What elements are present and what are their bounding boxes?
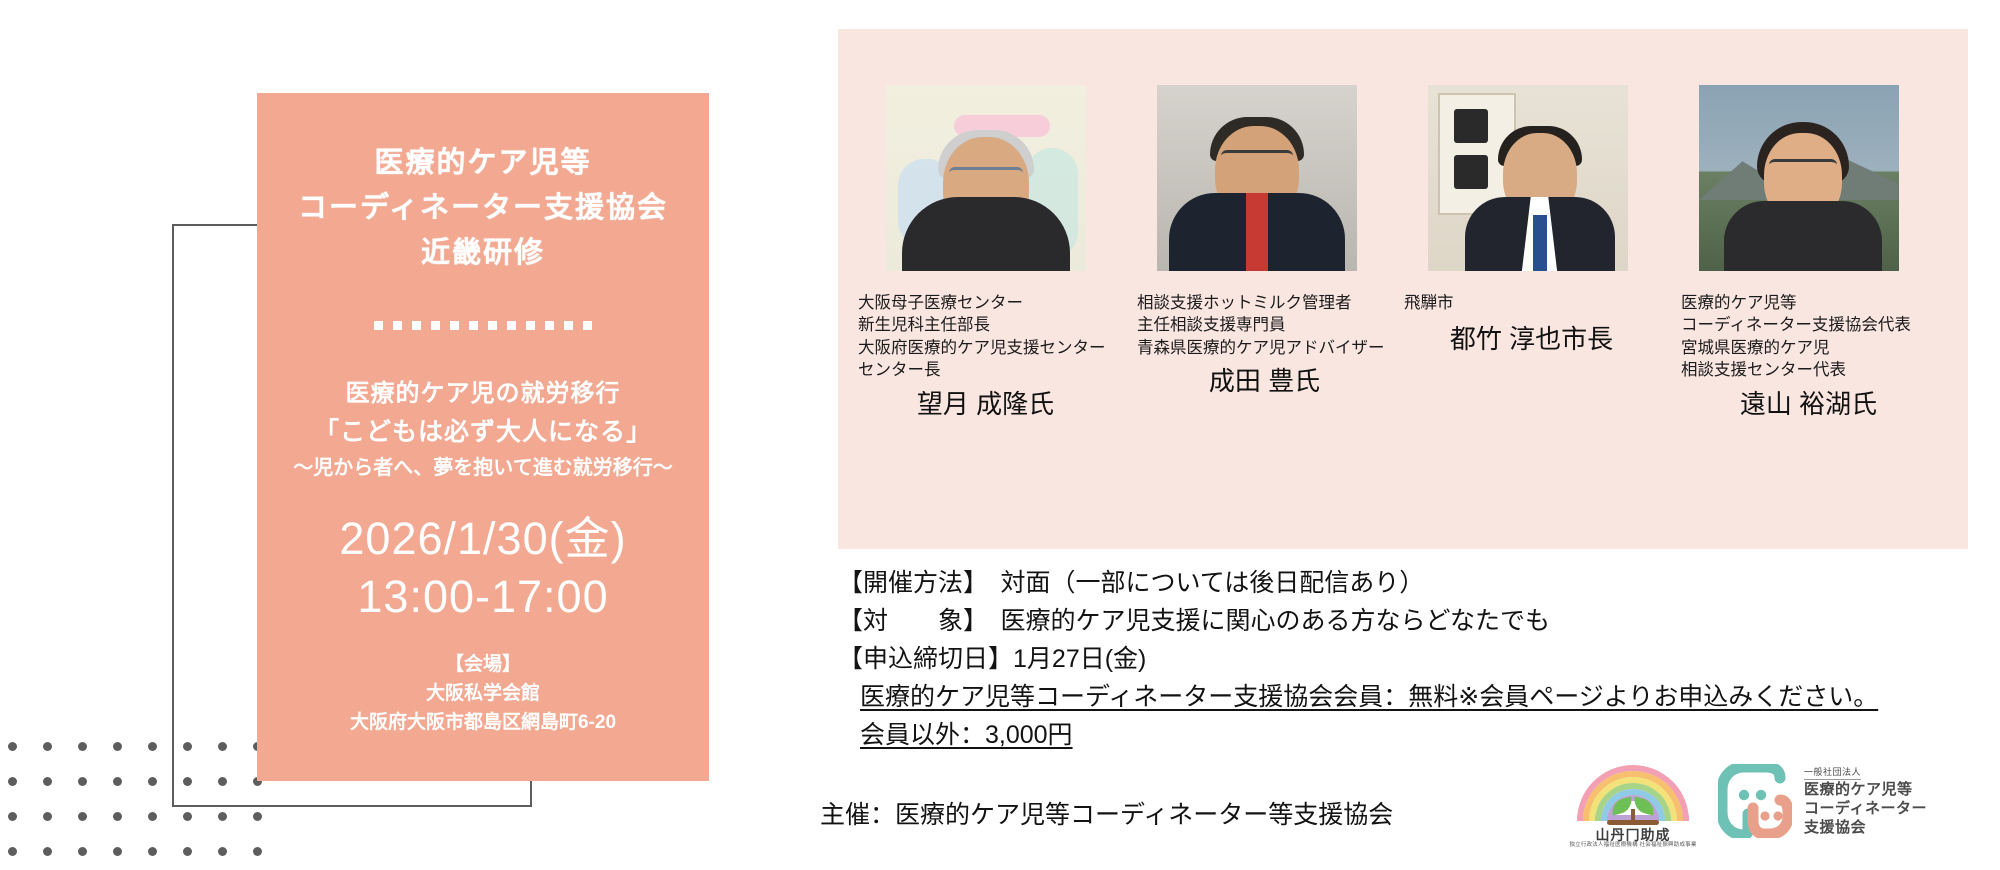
poster-venue-address: 大阪府大阪市都島区網島町6-20 bbox=[275, 709, 691, 738]
speaker-card: 相談支援ホットミルク管理者 主任相談支援専門員 青森県医療的ケア児アドバイザー … bbox=[1129, 85, 1384, 400]
poster-tagline: 〜児から者へ、夢を抱いて進む就労移行〜 bbox=[275, 454, 691, 482]
grid-dot bbox=[78, 812, 87, 821]
grid-dot bbox=[43, 742, 52, 751]
divider-dot bbox=[545, 321, 554, 330]
speaker-affiliation-line: 新生児科主任部長 bbox=[858, 314, 1113, 336]
detail-row-deadline: 【申込締切日】1月27日(金) bbox=[838, 640, 1958, 678]
poster-venue-block: 【会場】 大阪私学会館 大阪府大阪市都島区網島町6-20 bbox=[275, 651, 691, 738]
speaker-affiliation-line: 飛騨市 bbox=[1404, 292, 1659, 314]
speaker-affiliation-line: 主任相談支援専門員 bbox=[1137, 314, 1392, 336]
grid-dot bbox=[113, 847, 122, 856]
poster-title-line-2: コーディネーター支援協会 bbox=[275, 186, 691, 231]
association-wordmark: 一般社団法人 医療的ケア児等 コーディネーター 支援協会 bbox=[1804, 762, 1964, 838]
association-line-2: コーディネーター bbox=[1804, 799, 1964, 818]
speaker-affiliation-line: 大阪府医療的ケア児支援センター bbox=[858, 337, 1113, 359]
speaker-card: 飛騨市 都竹 淳也市長 bbox=[1400, 85, 1655, 358]
divider-dot bbox=[526, 321, 535, 330]
detail-label: 【対 象】 bbox=[838, 607, 976, 635]
poster-venue-label: 【会場】 bbox=[275, 651, 691, 680]
grid-dot bbox=[78, 847, 87, 856]
poster-subject: 医療的ケア児の就労移行 bbox=[275, 376, 691, 412]
speaker-affiliation-line: 大阪母子医療センター bbox=[858, 292, 1113, 314]
event-poster-card: 医療的ケア児等 コーディネーター支援協会 近畿研修 医療的ケア児の就労移行 「こ… bbox=[257, 93, 709, 781]
divider-dot bbox=[450, 321, 459, 330]
detail-value: 会員以外：3,000円 bbox=[860, 721, 1073, 749]
grid-dot bbox=[218, 812, 227, 821]
grid-dot bbox=[113, 742, 122, 751]
grid-dot bbox=[253, 812, 262, 821]
speaker-affiliation-line: 青森県医療的ケア児アドバイザー bbox=[1137, 337, 1392, 359]
detail-row-method: 【開催方法】 対面（一部については後日配信あり） bbox=[838, 564, 1958, 602]
speaker-affiliation-line: 相談支援センター代表 bbox=[1681, 359, 1936, 381]
association-prefix: 一般社団法人 bbox=[1804, 765, 1861, 780]
grid-dot bbox=[8, 847, 17, 856]
association-line-3: 支援協会 bbox=[1804, 818, 1964, 837]
poster-date: 2026/1/30(金) bbox=[275, 510, 691, 568]
speaker-name: 成田 豊氏 bbox=[1137, 364, 1392, 399]
poster-time: 13:00-17:00 bbox=[275, 568, 691, 626]
grid-dot bbox=[148, 777, 157, 786]
wam-subtitle: 独立行政法人福祉医療機構 社会福祉振興助成事業 bbox=[1549, 840, 1717, 848]
detail-value: 医療的ケア児支援に関心のある方ならどなたでも bbox=[976, 607, 1551, 635]
detail-value: 1月27日(金) bbox=[1013, 645, 1146, 673]
detail-row-member-fee: 医療的ケア児等コーディネーター支援協会会員：無料※会員ページよりお申込みください… bbox=[838, 678, 1958, 716]
detail-row-audience: 【対 象】 医療的ケア児支援に関心のある方ならどなたでも bbox=[838, 602, 1958, 640]
poster-dot-divider bbox=[373, 321, 593, 330]
divider-dot bbox=[412, 321, 421, 330]
event-details-block: 【開催方法】 対面（一部については後日配信あり） 【対 象】 医療的ケア児支援に… bbox=[838, 564, 1958, 754]
speaker-card: 医療的ケア児等 コーディネーター支援協会代表 宮城県医療的ケア児 相談支援センタ… bbox=[1671, 85, 1926, 422]
speaker-affiliation-line: 医療的ケア児等 bbox=[1681, 292, 1936, 314]
divider-dot bbox=[374, 321, 383, 330]
divider-dot bbox=[469, 321, 478, 330]
divider-dot bbox=[564, 321, 573, 330]
detail-label: 【開催方法】 bbox=[838, 569, 976, 597]
speaker-panel: 大阪母子医療センター 新生児科主任部長 大阪府医療的ケア児支援センター センター… bbox=[838, 29, 1968, 549]
speaker-photo-toyama bbox=[1699, 85, 1899, 271]
speaker-affiliation-line: 宮城県医療的ケア児 bbox=[1681, 337, 1936, 359]
poster-theme: 「こどもは必ず大人になる」 bbox=[275, 415, 691, 450]
poster-title: 医療的ケア児等 コーディネーター支援協会 近畿研修 bbox=[275, 141, 691, 277]
speaker-affiliation-line: コーディネーター支援協会代表 bbox=[1681, 314, 1936, 336]
speaker-name: 遠山 裕湖氏 bbox=[1681, 387, 1936, 422]
speaker-name: 都竹 淳也市長 bbox=[1404, 322, 1659, 357]
wam-josei-logo: 山丹冂助成 独立行政法人福祉医療機構 社会福祉振興助成事業 bbox=[1549, 763, 1717, 845]
speaker-card: 大阪母子医療センター 新生児科主任部長 大阪府医療的ケア児支援センター センター… bbox=[858, 85, 1113, 422]
divider-dot bbox=[431, 321, 440, 330]
speaker-name: 望月 成隆氏 bbox=[858, 387, 1113, 422]
poster-title-line-3: 近畿研修 bbox=[275, 231, 691, 276]
grid-dot bbox=[43, 847, 52, 856]
grid-dot bbox=[43, 777, 52, 786]
association-logo: 一般社団法人 医療的ケア児等 コーディネーター 支援協会 bbox=[1714, 760, 1964, 844]
host-organization: 主催：医療的ケア児等コーディネーター等支援協会 bbox=[820, 795, 1393, 831]
grid-dot bbox=[8, 812, 17, 821]
speaker-affiliation-line: センター長 bbox=[858, 359, 1113, 381]
detail-value: 対面（一部については後日配信あり） bbox=[976, 569, 1425, 597]
speaker-photo-narita bbox=[1157, 85, 1357, 271]
speaker-caption: 大阪母子医療センター 新生児科主任部長 大阪府医療的ケア児支援センター センター… bbox=[858, 292, 1113, 422]
poster-venue-name: 大阪私学会館 bbox=[275, 680, 691, 709]
divider-dot bbox=[507, 321, 516, 330]
speaker-photo-tsuzuku bbox=[1428, 85, 1628, 271]
poster-title-line-1: 医療的ケア児等 bbox=[275, 141, 691, 186]
grid-dot bbox=[253, 847, 262, 856]
speaker-caption: 相談支援ホットミルク管理者 主任相談支援専門員 青森県医療的ケア児アドバイザー … bbox=[1129, 292, 1392, 400]
divider-dot bbox=[393, 321, 402, 330]
grid-dot bbox=[218, 847, 227, 856]
grid-dot bbox=[183, 812, 192, 821]
grid-dot bbox=[148, 742, 157, 751]
grid-dot bbox=[8, 777, 17, 786]
grid-dot bbox=[113, 777, 122, 786]
divider-dot bbox=[583, 321, 592, 330]
association-line-1: 医療的ケア児等 bbox=[1804, 780, 1964, 799]
speaker-list: 大阪母子医療センター 新生児科主任部長 大阪府医療的ケア児支援センター センター… bbox=[858, 29, 1948, 549]
grid-dot bbox=[8, 742, 17, 751]
detail-label: 【申込締切日】 bbox=[838, 645, 1013, 673]
grid-dot bbox=[78, 742, 87, 751]
divider-dot bbox=[488, 321, 497, 330]
speaker-caption: 医療的ケア児等 コーディネーター支援協会代表 宮城県医療的ケア児 相談支援センタ… bbox=[1671, 292, 1936, 422]
speaker-photo-mochizuki bbox=[886, 85, 1086, 271]
speaker-caption: 飛騨市 都竹 淳也市長 bbox=[1400, 292, 1659, 358]
grid-dot bbox=[148, 847, 157, 856]
grid-dot bbox=[43, 812, 52, 821]
detail-value: 医療的ケア児等コーディネーター支援協会会員：無料※会員ページよりお申込みください… bbox=[860, 683, 1878, 711]
association-mark-icon bbox=[1718, 764, 1792, 838]
grid-dot bbox=[183, 847, 192, 856]
detail-row-nonmember-fee: 会員以外：3,000円 bbox=[838, 716, 1958, 754]
grid-dot bbox=[148, 812, 157, 821]
speaker-affiliation-line: 相談支援ホットミルク管理者 bbox=[1137, 292, 1392, 314]
grid-dot bbox=[113, 812, 122, 821]
grid-dot bbox=[78, 777, 87, 786]
